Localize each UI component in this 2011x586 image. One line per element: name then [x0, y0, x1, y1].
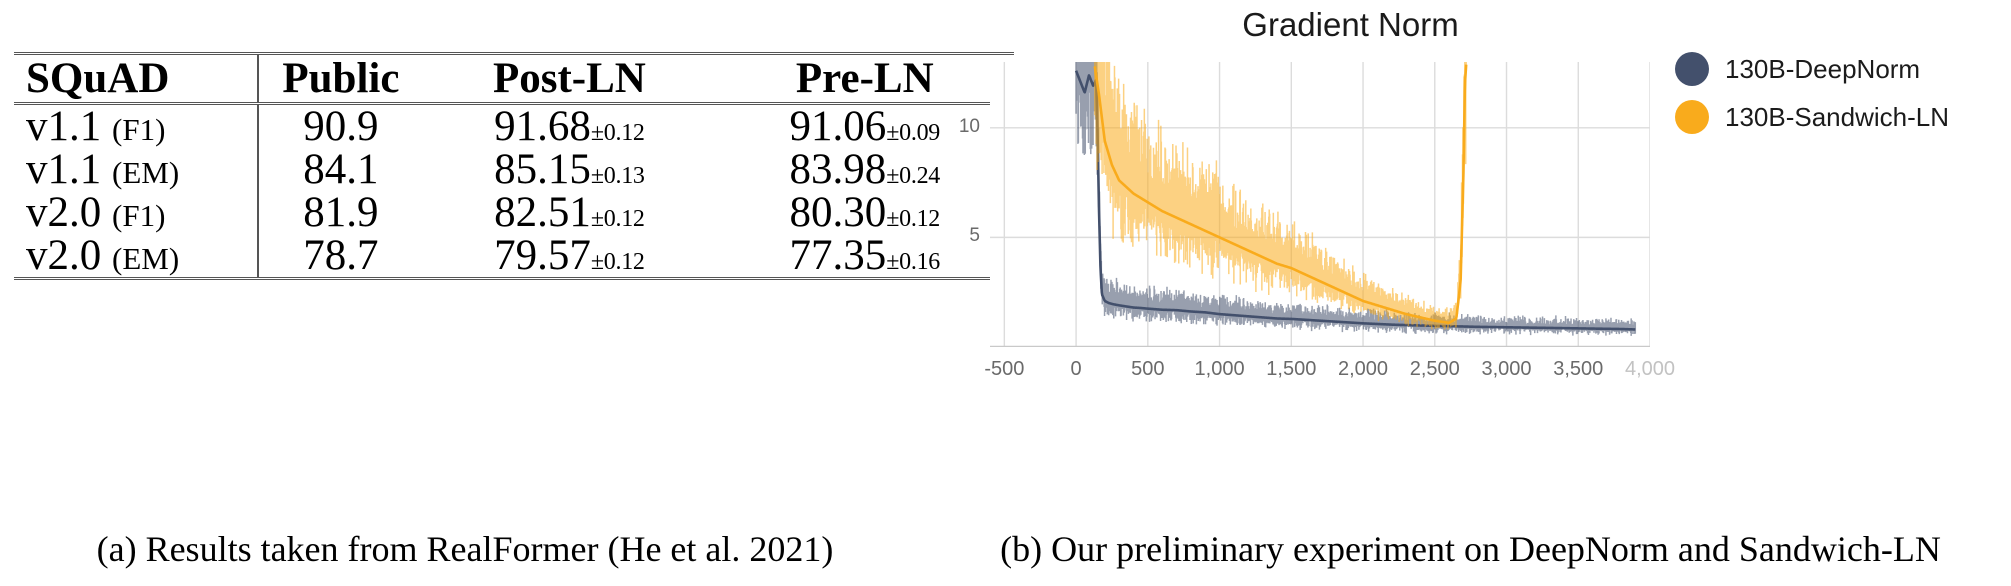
table-row: v1.1 (EM) 84.1 85.15±0.13 83.98±0.24 — [14, 148, 1014, 191]
row-metric: (EM) — [112, 155, 179, 190]
subfigure-caption-a: (a) Results taken from RealFormer (He et… — [0, 528, 930, 570]
cell-post-ln: 82.51±0.12 — [423, 191, 715, 234]
table-row: v2.0 (EM) 78.7 79.57±0.12 77.35±0.16 — [14, 234, 1014, 279]
row-label: v2.0 (EM) — [14, 234, 258, 279]
row-version: v1.1 — [26, 146, 101, 193]
cell-post-ln-value: 91.68 — [494, 103, 591, 150]
col-header-post-ln: Post-LN — [423, 54, 715, 104]
cell-public: 81.9 — [258, 191, 424, 234]
cell-public: 78.7 — [258, 234, 424, 279]
cell-pre-ln-value: 80.30 — [790, 189, 887, 236]
table-header-row: SQuAD Public Post-LN Pre-LN — [14, 54, 1014, 104]
plot-area: 510 -50005001,0001,5002,0002,5003,0003,5… — [990, 62, 1650, 347]
legend-color-swatch-icon — [1675, 100, 1709, 134]
col-header-public: Public — [258, 54, 424, 104]
cell-post-ln: 79.57±0.12 — [423, 234, 715, 279]
cell-post-ln: 85.15±0.13 — [423, 148, 715, 191]
chart-legend: 130B-DeepNorm 130B-Sandwich-LN — [1675, 52, 2005, 148]
cell-post-ln-error: ±0.13 — [591, 163, 645, 189]
cell-post-ln-value: 79.57 — [494, 232, 591, 279]
y-tick-label: 10 — [934, 116, 980, 138]
table-row: v2.0 (F1) 81.9 82.51±0.12 80.30±0.12 — [14, 191, 1014, 234]
legend-label: 130B-Sandwich-LN — [1725, 102, 1949, 133]
x-tick-label: 4,000 — [1605, 358, 1695, 381]
row-metric: (EM) — [112, 241, 179, 276]
row-metric: (F1) — [112, 198, 165, 233]
cell-pre-ln-value: 77.35 — [790, 232, 887, 279]
cell-public: 84.1 — [258, 148, 424, 191]
chart-svg — [990, 62, 1650, 347]
cell-post-ln-value: 85.15 — [494, 146, 591, 193]
row-label: v1.1 (EM) — [14, 148, 258, 191]
cell-pre-ln-value: 91.06 — [790, 103, 887, 150]
row-label: v2.0 (F1) — [14, 191, 258, 234]
subfigure-caption-b: (b) Our preliminary experiment on DeepNo… — [930, 528, 2011, 570]
legend-item-deepnorm[interactable]: 130B-DeepNorm — [1675, 52, 2005, 86]
row-version: v2.0 — [26, 189, 101, 236]
row-label: v1.1 (F1) — [14, 105, 258, 148]
cell-pre-ln-value: 83.98 — [790, 146, 887, 193]
series-layer — [1076, 62, 1635, 336]
cell-post-ln-error: ±0.12 — [591, 206, 645, 232]
cell-public: 90.9 — [258, 105, 424, 148]
cell-post-ln: 91.68±0.12 — [423, 105, 715, 148]
squad-results-table: SQuAD Public Post-LN Pre-LN v1.1 (F1) 90… — [14, 52, 1014, 280]
chart-title: Gradient Norm — [930, 6, 1771, 44]
results-table-panel: SQuAD Public Post-LN Pre-LN v1.1 (F1) 90… — [0, 0, 930, 500]
cell-post-ln-error: ±0.12 — [591, 249, 645, 275]
gradient-norm-chart-panel: Gradient Norm 510 -50005001,0001,5002,00… — [930, 0, 2011, 500]
row-metric: (F1) — [112, 112, 165, 147]
row-version: v1.1 — [26, 103, 101, 150]
cell-post-ln-value: 82.51 — [494, 189, 591, 236]
legend-color-swatch-icon — [1675, 52, 1709, 86]
row-version: v2.0 — [26, 232, 101, 279]
col-header-squad: SQuAD — [14, 54, 258, 104]
cell-post-ln-error: ±0.12 — [591, 120, 645, 146]
table-row: v1.1 (F1) 90.9 91.68±0.12 91.06±0.09 — [14, 105, 1014, 148]
legend-item-sandwich-ln[interactable]: 130B-Sandwich-LN — [1675, 100, 2005, 134]
y-tick-label: 5 — [934, 225, 980, 247]
legend-label: 130B-DeepNorm — [1725, 54, 1920, 85]
